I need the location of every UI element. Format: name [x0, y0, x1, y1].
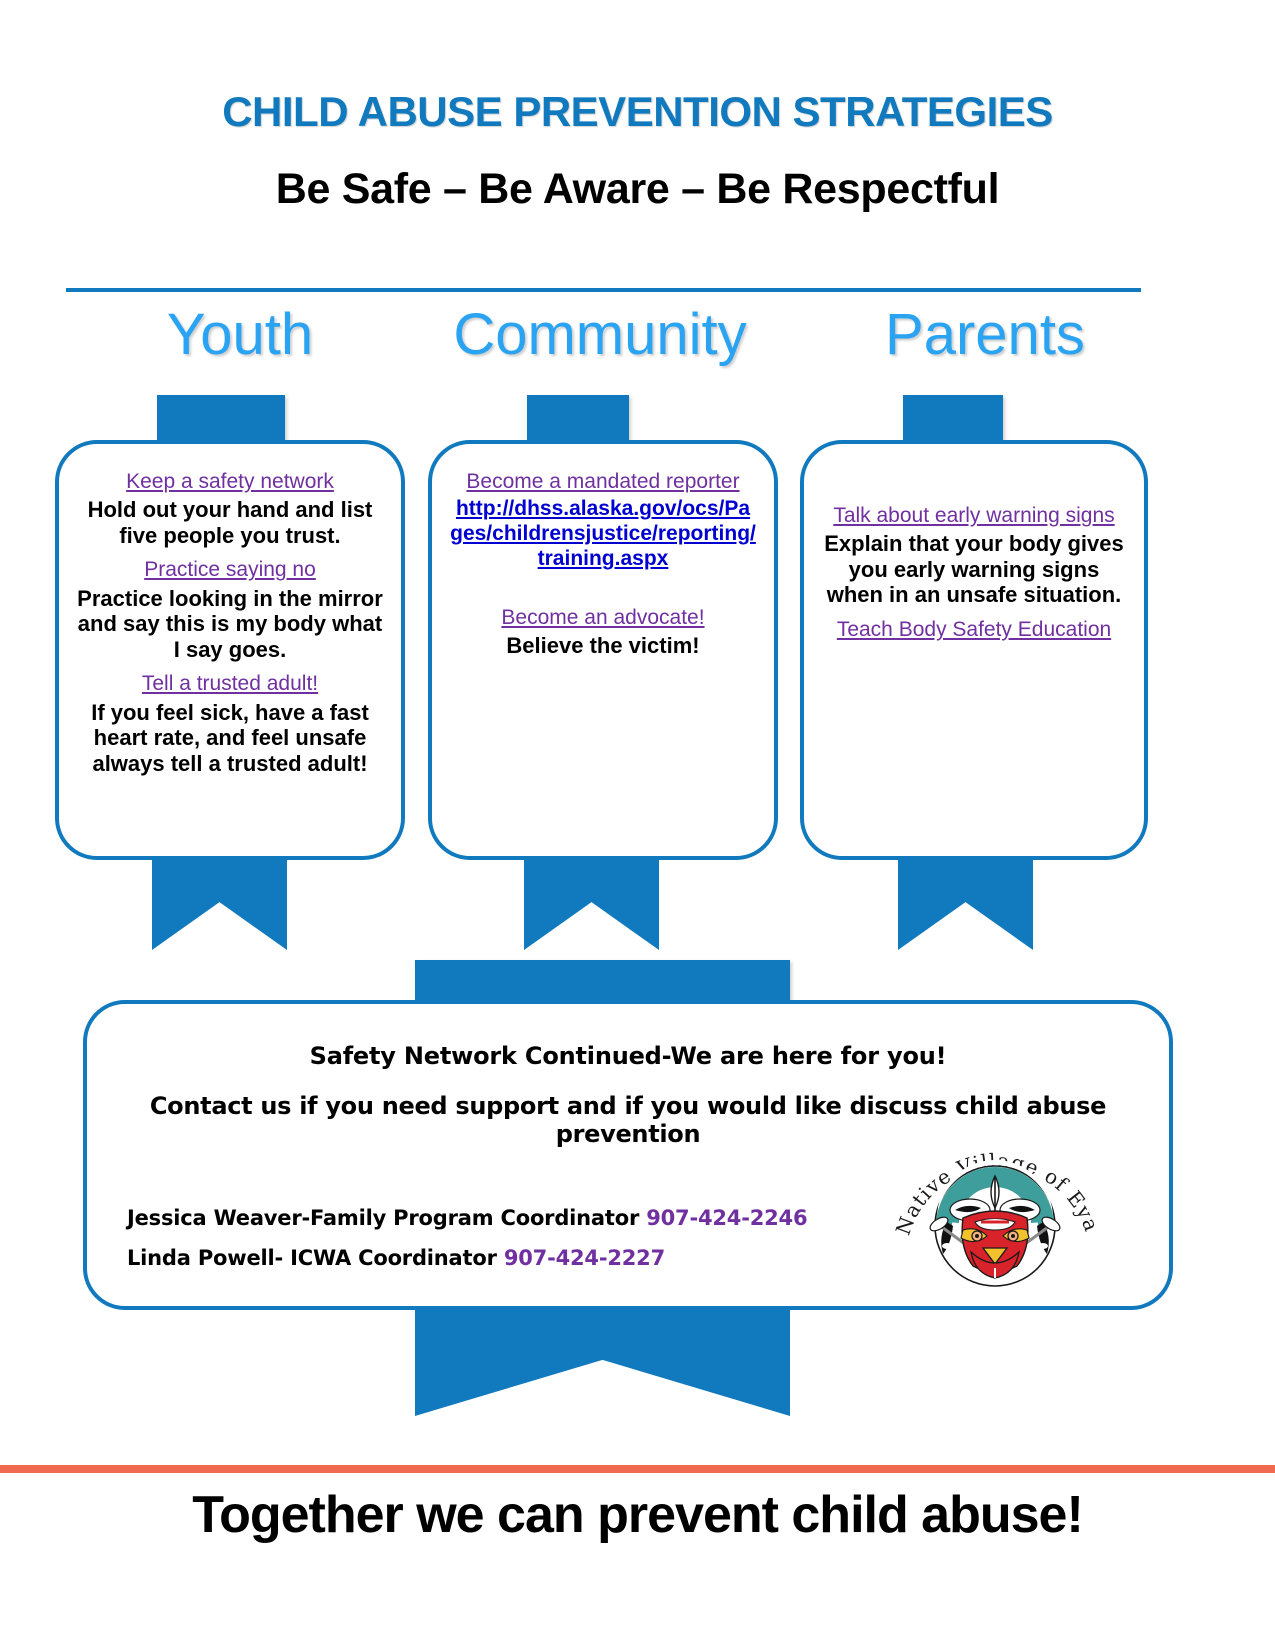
youth-link-tell-trusted-adult[interactable]: Tell a trusted adult! [77, 672, 383, 696]
card-youth-content: Keep a safety network Hold out your hand… [59, 444, 401, 796]
ribbon-tail-bottom [415, 1308, 790, 1416]
contact-name-0: Jessica Weaver-Family Program Coordinato… [127, 1206, 639, 1230]
card-community: Become a mandated reporter http://dhss.a… [428, 440, 778, 860]
page-title: CHILD ABUSE PREVENTION STRATEGIES [0, 88, 1275, 136]
column-heading-parents: Parents [830, 305, 1140, 366]
community-spacer [450, 572, 756, 606]
contact-phone-0[interactable]: 907-424-2246 [646, 1206, 807, 1230]
youth-link-practice-saying-no[interactable]: Practice saying no [77, 558, 383, 582]
community-link-mandated-reporter[interactable]: Become a mandated reporter [450, 470, 756, 494]
footer-divider-rule [0, 1465, 1275, 1473]
card-community-content: Become a mandated reporter http://dhss.a… [432, 444, 774, 679]
parents-body-early-warning-signs: Explain that your body gives you early w… [822, 531, 1126, 608]
column-heading-community: Community [395, 305, 805, 366]
community-url-training-link[interactable]: http://dhss.alaska.gov/ocs/Pages/childre… [450, 497, 756, 571]
ribbon-tail-parents [898, 858, 1033, 950]
youth-body-practice-saying-no: Practice looking in the mirror and say t… [77, 586, 383, 663]
contact-phone-1[interactable]: 907-424-2227 [504, 1246, 665, 1270]
card-parents: Talk about early warning signs Explain t… [800, 440, 1148, 860]
footer-tagline: Together we can prevent child abuse! [0, 1485, 1275, 1545]
contact-name-1: Linda Powell- ICWA Coordinator [127, 1246, 497, 1270]
youth-body-tell-trusted-adult: If you feel sick, have a fast heart rate… [77, 700, 383, 777]
youth-link-keep-safety-network[interactable]: Keep a safety network [77, 470, 383, 494]
column-heading-youth: Youth [90, 305, 390, 366]
community-link-become-advocate[interactable]: Become an advocate! [450, 606, 756, 630]
native-village-of-eyak-logo: Native Village of Eyak [895, 1118, 1095, 1293]
contact-headline: Safety Network Continued-We are here for… [127, 1042, 1129, 1070]
youth-body-safety-network: Hold out your hand and list five people … [77, 497, 383, 548]
parents-link-early-warning-signs[interactable]: Talk about early warning signs [822, 504, 1126, 528]
parents-link-body-safety-education[interactable]: Teach Body Safety Education [822, 618, 1126, 642]
ribbon-tail-community [524, 858, 659, 950]
page-subtitle: Be Safe – Be Aware – Be Respectful [0, 165, 1275, 214]
community-body-believe-victim: Believe the victim! [450, 633, 756, 659]
header-divider-rule [66, 288, 1141, 292]
poster-canvas: CHILD ABUSE PREVENTION STRATEGIES Be Saf… [0, 0, 1275, 1650]
card-parents-content: Talk about early warning signs Explain t… [804, 444, 1144, 655]
card-youth: Keep a safety network Hold out your hand… [55, 440, 405, 860]
ribbon-tail-youth [152, 858, 287, 950]
